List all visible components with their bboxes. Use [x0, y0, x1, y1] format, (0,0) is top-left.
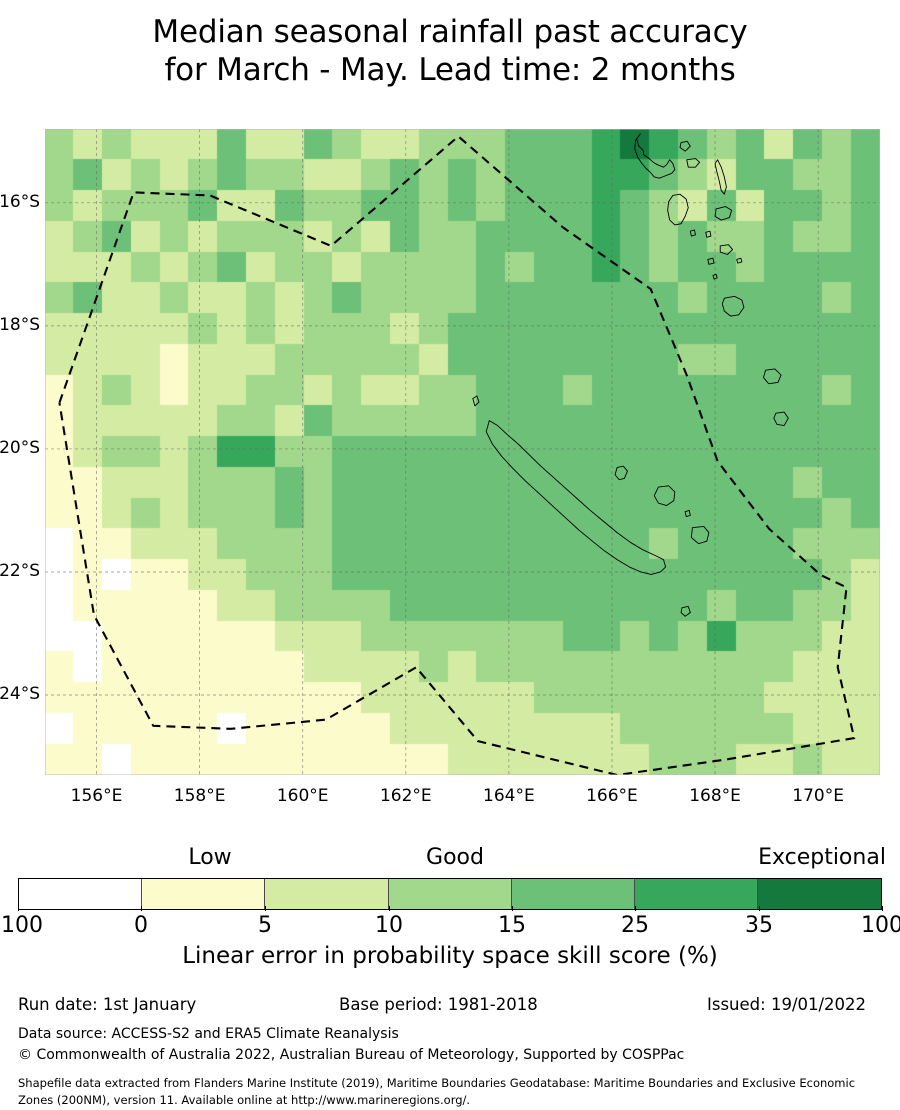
- colorbar-tick-6: 35: [745, 913, 773, 938]
- x-axis-tick-3: 162°E: [361, 786, 451, 806]
- colorbar-category-low: Low: [90, 845, 330, 870]
- colorbar-tick-2: 5: [258, 913, 272, 938]
- map-plot-area: [45, 129, 880, 775]
- x-axis-tick-4: 164°E: [464, 786, 554, 806]
- colorbar-tick-labels: -1000510152535100: [0, 911, 900, 941]
- colorbar-tick-3: 10: [375, 913, 403, 938]
- colorbar-segment-3: [389, 879, 512, 909]
- colorbar: LowGoodExceptional -1000510152535100 Lin…: [0, 845, 900, 970]
- y-axis-tick-2: 20°S: [0, 438, 40, 458]
- y-axis-tick-1: 18°S: [0, 315, 40, 335]
- x-axis-tick-7: 170°E: [773, 786, 863, 806]
- colorbar-tick-7: 100: [861, 913, 900, 938]
- colorbar-tickmark-0: [18, 906, 19, 911]
- shapefile-credit-line-2: Zones (200NM), version 11. Available onl…: [18, 1093, 470, 1107]
- x-axis-tick-0: 156°E: [52, 786, 142, 806]
- skill-score-heatmap: [45, 129, 880, 775]
- y-axis-tick-3: 22°S: [0, 561, 40, 581]
- footer-meta-row: Run date: 1st January Base period: 1981-…: [0, 995, 900, 1021]
- page-title: Median seasonal rainfall past accuracy f…: [0, 14, 900, 90]
- colorbar-gradient-bar: [18, 878, 882, 910]
- x-axis-tick-5: 166°E: [567, 786, 657, 806]
- colorbar-tickmark-6: [759, 906, 760, 911]
- title-line-1: Median seasonal rainfall past accuracy: [0, 14, 900, 52]
- colorbar-tickmark-1: [141, 906, 142, 911]
- colorbar-category-exceptional: Exceptional: [702, 845, 900, 870]
- data-source-text: Data source: ACCESS-S2 and ERA5 Climate …: [18, 1026, 399, 1042]
- y-axis-tick-4: 24°S: [0, 684, 40, 704]
- shapefile-credit-line-1: Shapefile data extracted from Flanders M…: [18, 1076, 855, 1090]
- colorbar-tickmark-5: [635, 906, 636, 911]
- colorbar-tickmark-4: [512, 906, 513, 911]
- colorbar-tickmark-3: [389, 906, 390, 911]
- copyright-text: © Commonwealth of Australia 2022, Austra…: [18, 1047, 684, 1063]
- title-line-2: for March - May. Lead time: 2 months: [0, 52, 900, 90]
- x-axis-tick-1: 158°E: [155, 786, 245, 806]
- x-axis-tick-2: 160°E: [258, 786, 348, 806]
- colorbar-tick-1: 0: [134, 913, 148, 938]
- figure-footer: Run date: 1st January Base period: 1981-…: [0, 995, 900, 1021]
- colorbar-category-good: Good: [335, 845, 575, 870]
- colorbar-tick-5: 25: [621, 913, 649, 938]
- y-axis-tick-0: 16°S: [0, 192, 40, 212]
- colorbar-segment-2: [265, 879, 389, 909]
- climate-map-figure: Median seasonal rainfall past accuracy f…: [0, 0, 900, 1110]
- base-period-text: Base period: 1981-2018: [339, 995, 538, 1014]
- colorbar-tick-4: 15: [498, 913, 526, 938]
- colorbar-category-labels: LowGoodExceptional: [0, 845, 900, 875]
- x-axis-tick-6: 168°E: [670, 786, 760, 806]
- colorbar-axis-title: Linear error in probability space skill …: [0, 943, 900, 969]
- colorbar-segment-4: [512, 879, 635, 909]
- colorbar-segment-0: [19, 879, 142, 909]
- run-date-text: Run date: 1st January: [18, 995, 196, 1014]
- colorbar-segment-6: [758, 879, 881, 909]
- colorbar-tick-0: -100: [0, 913, 43, 938]
- colorbar-tickmark-7: [882, 906, 883, 911]
- issued-date-text: Issued: 19/01/2022: [707, 995, 866, 1014]
- colorbar-segment-5: [635, 879, 759, 909]
- colorbar-segment-1: [142, 879, 266, 909]
- colorbar-tickmark-2: [265, 906, 266, 911]
